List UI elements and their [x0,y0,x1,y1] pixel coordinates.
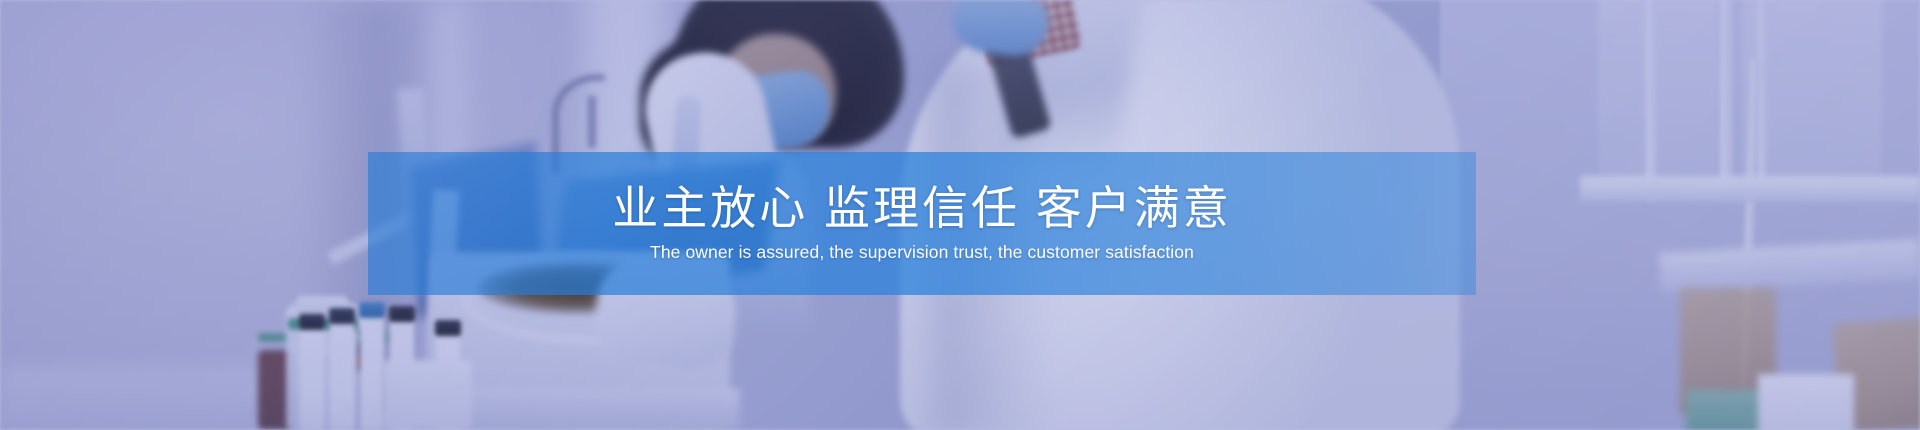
banner-hero: 业主放心 监理信任 客户满意 The owner is assured, the… [0,0,1920,430]
slogan-banner: 业主放心 监理信任 客户满意 The owner is assured, the… [368,152,1476,295]
banner-headline: 业主放心 监理信任 客户满意 [612,184,1232,233]
banner-subline: The owner is assured, the supervision tr… [650,242,1194,263]
